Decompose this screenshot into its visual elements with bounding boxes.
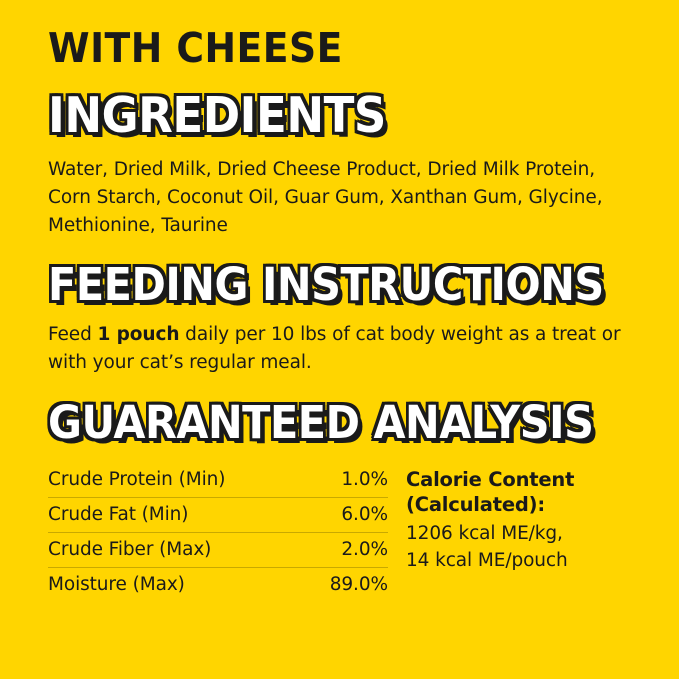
- analysis-value: 6.0%: [304, 497, 388, 532]
- label-panel: WITH CHEESE INGREDIENTS Water, Dried Mil…: [0, 0, 679, 679]
- analysis-label: Crude Fiber (Max): [48, 532, 304, 567]
- calorie-title-line1: Calorie Content: [406, 468, 574, 491]
- feeding-text-before: Feed: [48, 324, 98, 345]
- analysis-value: 89.0%: [304, 567, 388, 602]
- calorie-content-block: Calorie Content (Calculated): 1206 kcal …: [406, 463, 631, 574]
- feeding-instructions-heading: FEEDING INSTRUCTIONS: [48, 262, 584, 307]
- analysis-label: Crude Fat (Min): [48, 497, 304, 532]
- section-feeding-instructions: FEEDING INSTRUCTIONS Feed 1 pouch daily …: [48, 262, 631, 377]
- calorie-content-title: Calorie Content (Calculated):: [406, 467, 631, 518]
- analysis-label: Moisture (Max): [48, 567, 304, 602]
- calorie-value-kg: 1206 kcal ME/kg,: [406, 521, 631, 547]
- calorie-title-line2: (Calculated):: [406, 493, 545, 516]
- table-row: Crude Fat (Min) 6.0%: [48, 497, 388, 532]
- ingredients-text: Water, Dried Milk, Dried Cheese Product,…: [48, 156, 631, 240]
- table-row: Crude Protein (Min) 1.0%: [48, 463, 388, 498]
- analysis-label: Crude Protein (Min): [48, 463, 304, 498]
- feeding-instructions-text: Feed 1 pouch daily per 10 lbs of cat bod…: [48, 321, 631, 377]
- page-title: WITH CHEESE: [48, 28, 584, 69]
- section-guaranteed-analysis: GUARANTEED ANALYSIS Crude Protein (Min) …: [48, 400, 631, 602]
- guaranteed-analysis-content: Crude Protein (Min) 1.0% Crude Fat (Min)…: [48, 463, 631, 602]
- ingredients-heading: INGREDIENTS: [48, 91, 584, 140]
- analysis-value: 1.0%: [304, 463, 388, 498]
- analysis-value: 2.0%: [304, 532, 388, 567]
- calorie-value-pouch: 14 kcal ME/pouch: [406, 548, 631, 574]
- section-ingredients: INGREDIENTS Water, Dried Milk, Dried Che…: [48, 91, 631, 240]
- guaranteed-analysis-heading: GUARANTEED ANALYSIS: [48, 400, 584, 445]
- table-row: Crude Fiber (Max) 2.0%: [48, 532, 388, 567]
- feeding-text-emphasis: 1 pouch: [98, 324, 180, 345]
- table-row: Moisture (Max) 89.0%: [48, 567, 388, 602]
- guaranteed-analysis-table: Crude Protein (Min) 1.0% Crude Fat (Min)…: [48, 463, 388, 602]
